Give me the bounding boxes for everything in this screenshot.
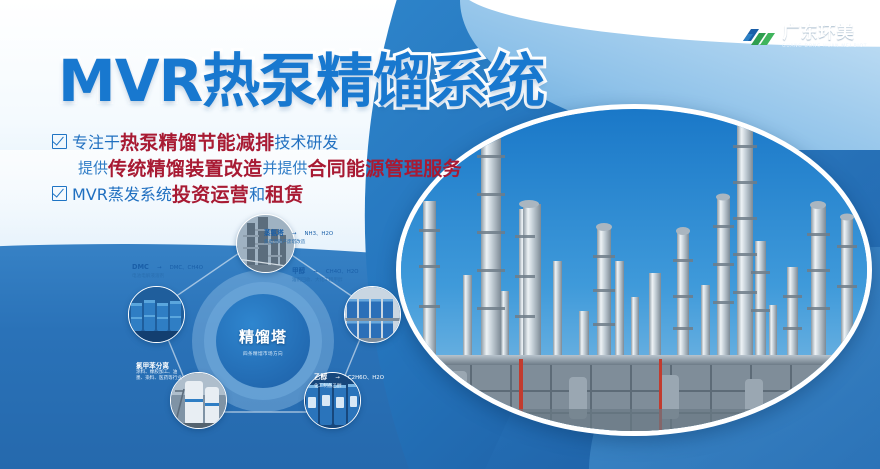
bullet-row-2: 提供 传统精馏装置改造 并提供 合同能源管理服务 [52,154,462,180]
bullet-1-seg-2: 热泵精馏节能减排 [120,128,274,155]
label-dmc-formula: DMC、CH4O [170,265,203,271]
label-ammonia-stripper: 蒸氨塔 → NH3、H2O 焦电项目产废塔改造 [264,220,333,246]
node-methanol-thumb[interactable] [344,286,401,343]
distillation-market-diagram: 精馏塔 四条精馏市场方向 [118,214,410,426]
bullet-row-1: 专注于 热泵精馏节能减排 技术研发 [52,128,462,154]
hub-subtitle: 四条精馏市场方向 [243,351,283,357]
arrow-icon: → [335,375,340,382]
distillation-plant-photo [396,104,872,436]
label-ammonia-stripper-subtitle: 焦电项目产废塔改造 [264,240,333,246]
bullet-3-seg-1: MVR蒸发系统 [72,181,172,205]
arrows-logo-icon [742,25,776,49]
brand-logo-text: 广东环美 GUANG DONG HUAN MEI BIOT [783,25,866,49]
node-dmc-thumb[interactable] [128,286,185,343]
label-methanol: 甲醇 → CH4O、H2O 溶剂回收、大化工粗甲醇 [292,258,359,284]
brand-name-cn: 广东环美 [783,25,855,42]
bullet-3-seg-3: 和 [249,181,265,205]
brand-logo[interactable]: 广东环美 GUANG DONG HUAN MEI BIOT [742,25,866,49]
bullet-2-seg-3: 并提供 [262,157,307,178]
bullet-3-seg-4: 租赁 [265,180,304,207]
bullet-2-seg-2: 传统精馏装置改造 [108,154,262,181]
arrow-icon: → [157,265,162,272]
bullet-2-seg-4: 合同能源管理服务 [307,154,461,181]
bullet-list: 专注于 热泵精馏节能减排 技术研发 提供 传统精馏装置改造 并提供 合同能源管理… [52,128,462,206]
bullet-row-3: MVR蒸发系统 投资运营 和 租赁 [52,180,462,206]
brand-name-en: GUANG DONG HUAN MEI BIOT [782,45,867,49]
checkbox-icon [52,134,67,149]
label-toluene-separation: 氯甲苯分离 涂料、橡胶加工、油墨、染料、医药等行业 [136,362,184,382]
label-ammonia-stripper-formula: NH3、H2O [305,231,334,237]
label-ethanol-title: 乙醇 [314,373,327,381]
label-methanol-subtitle: 溶剂回收、大化工粗甲醇 [292,278,359,284]
arrow-icon: → [313,269,318,276]
bullet-1-seg-1: 专注于 [72,129,120,153]
label-methanol-title: 甲醇 [292,267,305,275]
label-dmc: DMC → DMC、CH4O 电池电解液溶剂 [132,254,203,280]
label-toluene-separation-subtitle: 涂料、橡胶加工、油墨、染料、医药等行业 [136,370,184,382]
page-title: MVR热泵精馏系统 [58,52,544,110]
hub-core: 精馏塔 四条精馏市场方向 [216,294,310,388]
bullet-1-seg-3: 技术研发 [274,129,338,153]
label-ammonia-stripper-title: 蒸氨塔 [264,229,284,237]
label-ethanol: 乙醇 → C2H6O、H2O 化工制备乙醇 [314,364,384,390]
poster-canvas: 广东环美 GUANG DONG HUAN MEI BIOT MVR热泵精馏系统 … [0,0,880,469]
arrow-icon: → [292,231,297,238]
hub-title: 精馏塔 [239,326,287,347]
label-ethanol-formula: C2H6O、H2O [348,375,384,381]
label-dmc-subtitle: 电池电解液溶剂 [132,274,203,280]
bullet-2-seg-1: 提供 [78,157,108,178]
checkbox-icon [52,186,67,201]
bullet-3-seg-2: 投资运营 [172,180,249,207]
label-ethanol-subtitle: 化工制备乙醇 [314,384,384,390]
label-methanol-formula: CH4O、H2O [326,269,359,275]
label-dmc-title: DMC [132,263,149,271]
